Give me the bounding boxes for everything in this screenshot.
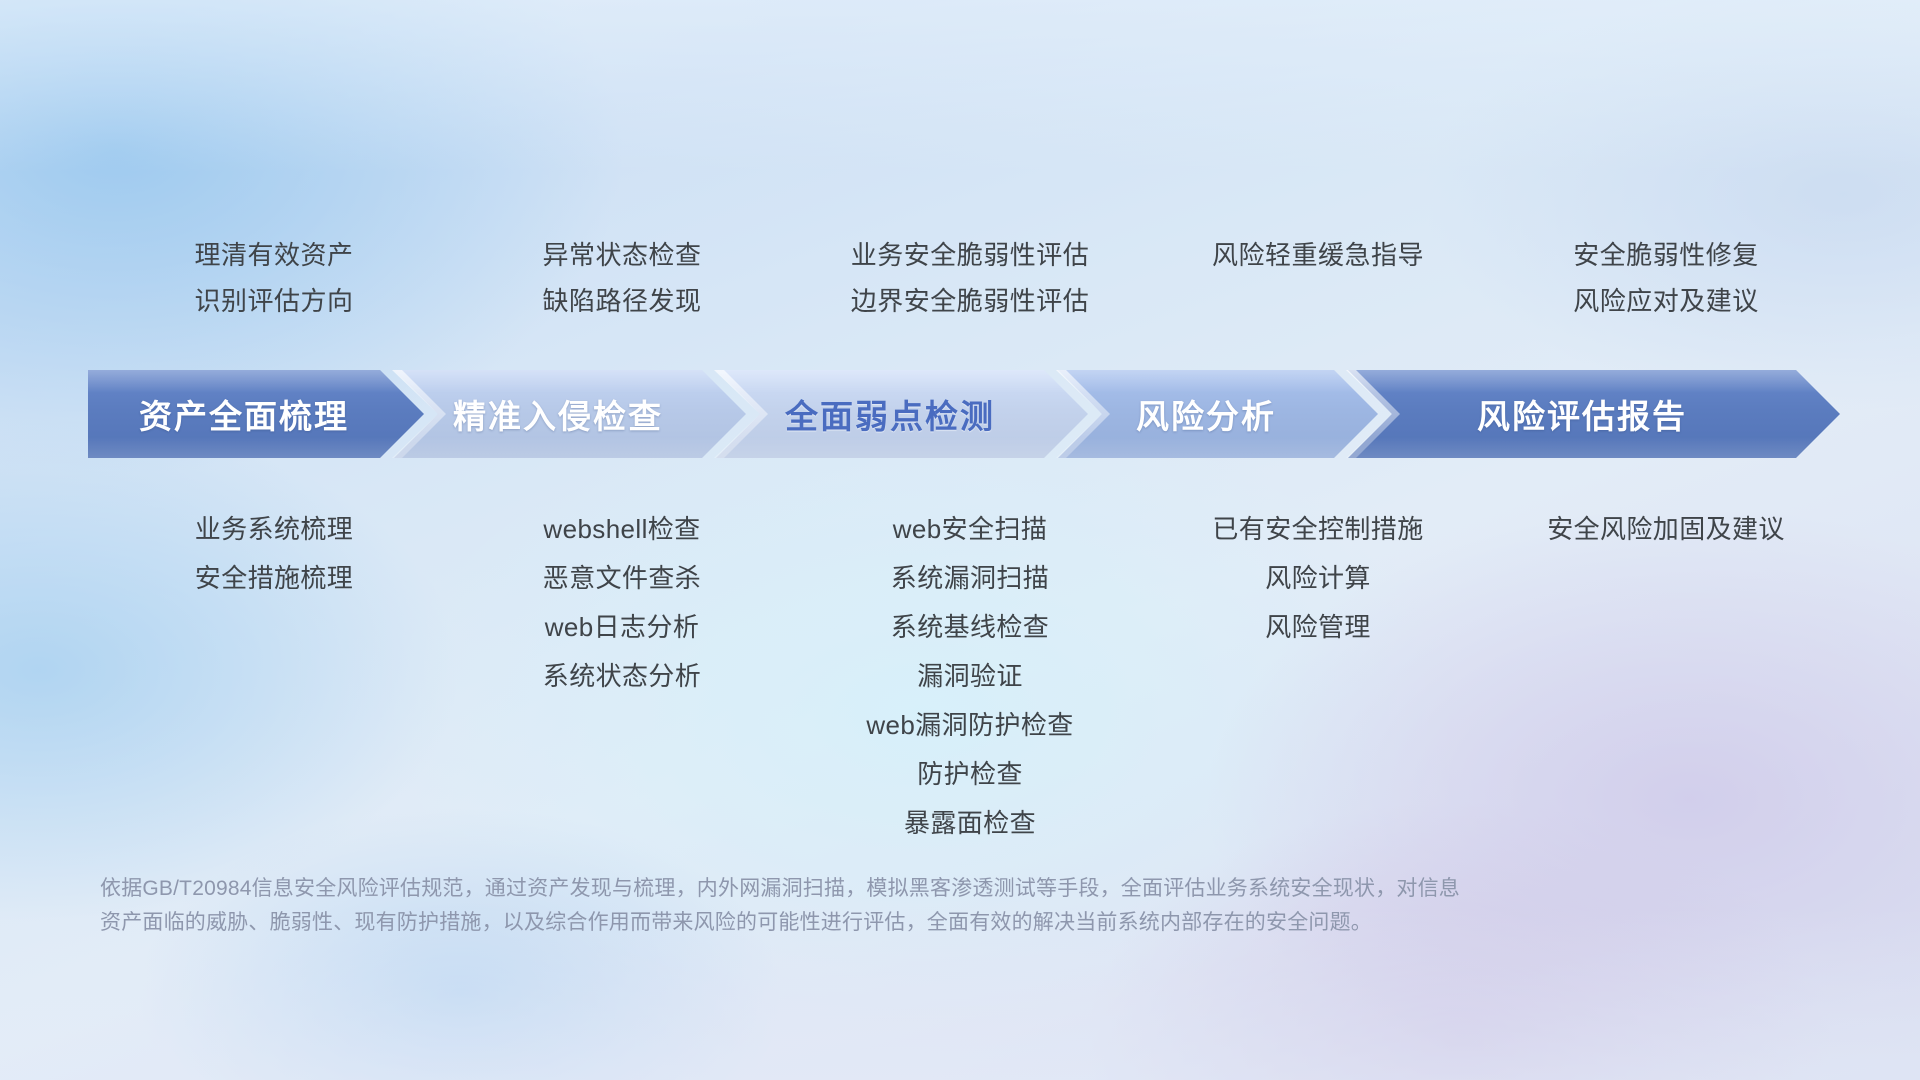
- top-label: 理清有效资产: [100, 232, 448, 278]
- top-label: 风险轻重缓急指导: [1144, 232, 1492, 278]
- top-labels-risk-analysis: 风险轻重缓急指导: [1144, 232, 1492, 324]
- bottom-label: web漏洞防护检查: [796, 701, 1144, 750]
- top-label-row: 理清有效资产 识别评估方向 异常状态检查 缺陷路径发现 业务安全脆弱性评估 边界…: [100, 232, 1840, 324]
- stage-arrow-label: 精准入侵检查: [453, 390, 663, 438]
- stage-arrow-label: 资产全面梳理: [139, 390, 349, 438]
- bottom-label: 恶意文件查杀: [448, 554, 796, 603]
- slide-content: 理清有效资产 识别评估方向 异常状态检查 缺陷路径发现 业务安全脆弱性评估 边界…: [0, 0, 1920, 1080]
- stage-arrow-label: 风险分析: [1136, 390, 1276, 438]
- top-label: 边界安全脆弱性评估: [796, 278, 1144, 324]
- bottom-label: 漏洞验证: [796, 652, 1144, 701]
- top-label: 缺陷路径发现: [448, 278, 796, 324]
- top-label: 安全脆弱性修复: [1492, 232, 1840, 278]
- bottom-label: 防护检查: [796, 750, 1144, 799]
- stage-arrow-intrusion-check[interactable]: 精准入侵检查: [394, 370, 746, 458]
- footer-description: 依据GB/T20984信息安全风险评估规范，通过资产发现与梳理，内外网漏洞扫描，…: [100, 872, 1620, 940]
- bottom-label: 系统漏洞扫描: [796, 554, 1144, 603]
- slide-canvas: 理清有效资产 识别评估方向 异常状态检查 缺陷路径发现 业务安全脆弱性评估 边界…: [0, 0, 1920, 1080]
- footer-line-2: 资产面临的威胁、脆弱性、现有防护措施，以及综合作用而带来风险的可能性进行评估，全…: [100, 906, 1620, 940]
- stage-arrow-label: 风险评估报告: [1477, 390, 1687, 438]
- top-labels-weakness-detection: 业务安全脆弱性评估 边界安全脆弱性评估: [796, 232, 1144, 324]
- top-label: 业务安全脆弱性评估: [796, 232, 1144, 278]
- bottom-labels-asset-inventory: 业务系统梳理 安全措施梳理: [100, 505, 448, 603]
- stage-arrow-weakness-detection[interactable]: 全面弱点检测: [716, 370, 1088, 458]
- bottom-label: 安全风险加固及建议: [1492, 505, 1840, 554]
- stage-arrow-asset-inventory[interactable]: 资产全面梳理: [88, 370, 424, 458]
- bottom-label: 系统基线检查: [796, 603, 1144, 652]
- top-labels-risk-report: 安全脆弱性修复 风险应对及建议: [1492, 232, 1840, 324]
- process-arrow-banner: 资产全面梳理 精准入侵检查 全面弱点检测 风险分析: [88, 370, 1840, 458]
- top-label: 异常状态检查: [448, 232, 796, 278]
- bottom-label: 已有安全控制措施: [1144, 505, 1492, 554]
- bottom-label: 系统状态分析: [448, 652, 796, 701]
- footer-line-1: 依据GB/T20984信息安全风险评估规范，通过资产发现与梳理，内外网漏洞扫描，…: [100, 872, 1620, 906]
- bottom-label: web日志分析: [448, 603, 796, 652]
- bottom-label: 暴露面检查: [796, 799, 1144, 848]
- bottom-labels-weakness-detection: web安全扫描 系统漏洞扫描 系统基线检查 漏洞验证 web漏洞防护检查 防护检…: [796, 505, 1144, 848]
- stage-arrow-label: 全面弱点检测: [785, 390, 995, 438]
- top-labels-intrusion-check: 异常状态检查 缺陷路径发现: [448, 232, 796, 324]
- bottom-label: 业务系统梳理: [100, 505, 448, 554]
- bottom-labels-risk-report: 安全风险加固及建议: [1492, 505, 1840, 554]
- stage-arrow-risk-report[interactable]: 风险评估报告: [1348, 370, 1840, 458]
- bottom-label-row: 业务系统梳理 安全措施梳理 webshell检查 恶意文件查杀 web日志分析 …: [100, 505, 1840, 848]
- stage-arrow-risk-analysis[interactable]: 风险分析: [1058, 370, 1378, 458]
- top-label: 识别评估方向: [100, 278, 448, 324]
- top-label: 风险应对及建议: [1492, 278, 1840, 324]
- bottom-labels-intrusion-check: webshell检查 恶意文件查杀 web日志分析 系统状态分析: [448, 505, 796, 701]
- bottom-label: 风险管理: [1144, 603, 1492, 652]
- bottom-label: 风险计算: [1144, 554, 1492, 603]
- bottom-label: 安全措施梳理: [100, 554, 448, 603]
- bottom-labels-risk-analysis: 已有安全控制措施 风险计算 风险管理: [1144, 505, 1492, 652]
- top-labels-asset-inventory: 理清有效资产 识别评估方向: [100, 232, 448, 324]
- bottom-label: web安全扫描: [796, 505, 1144, 554]
- bottom-label: webshell检查: [448, 505, 796, 554]
